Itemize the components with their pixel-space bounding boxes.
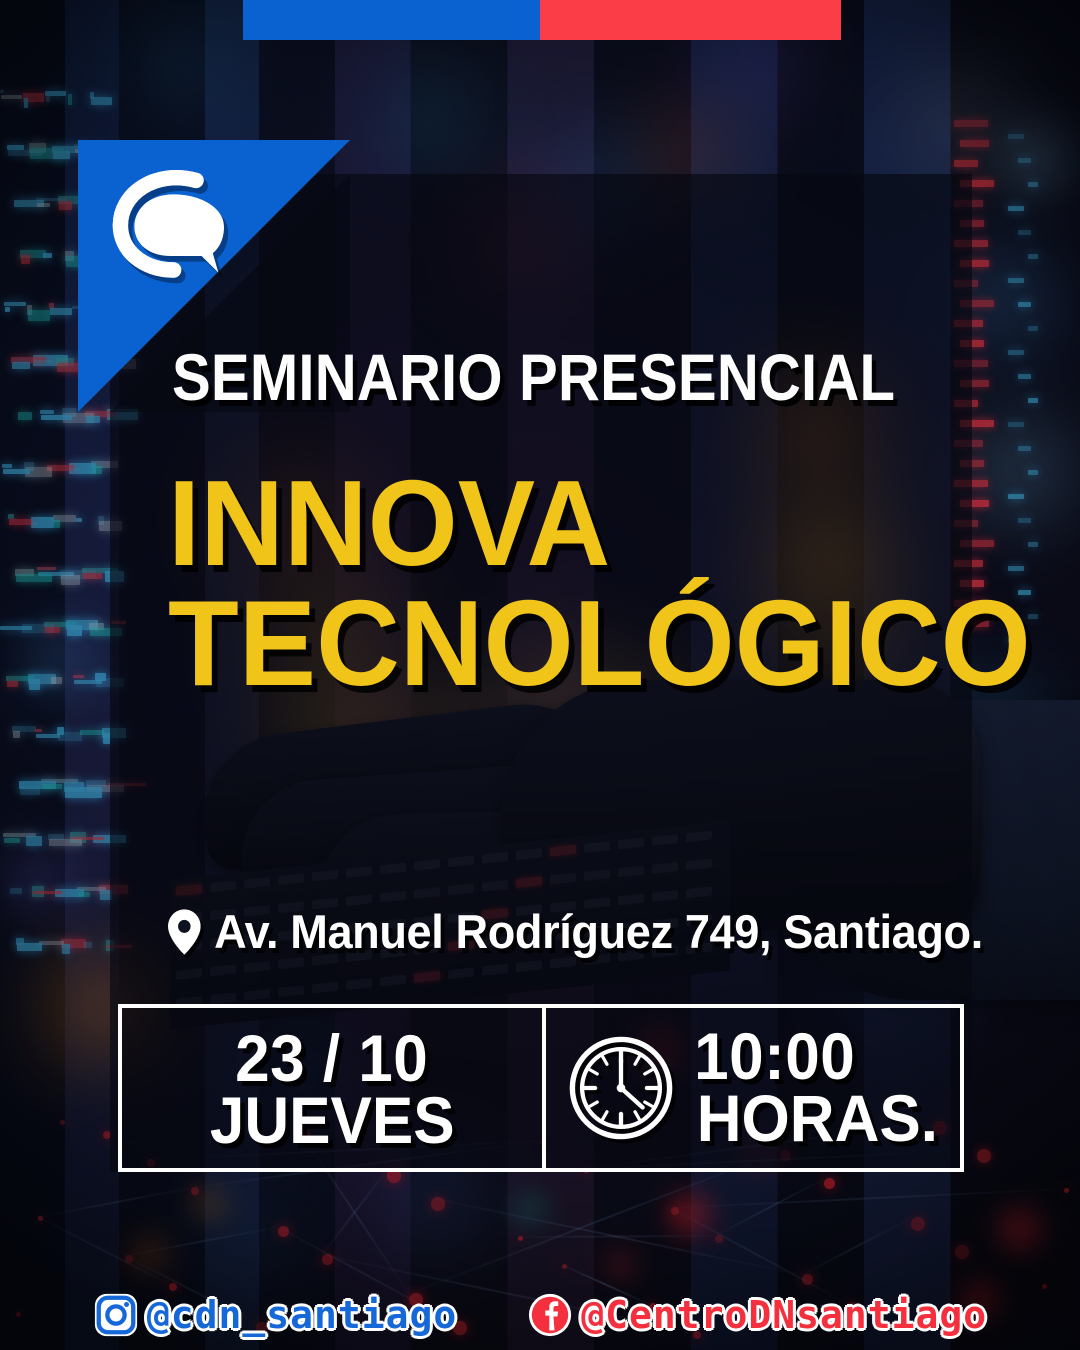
instagram-handle-item[interactable]: @cdn_santiago — [93, 1292, 457, 1338]
top-bar-red — [540, 0, 841, 40]
top-color-bars — [243, 0, 841, 40]
address-text: Av. Manuel Rodríguez 749, Santiago. — [214, 904, 983, 959]
clock-icon — [567, 1034, 675, 1142]
facebook-icon[interactable] — [527, 1292, 573, 1338]
time-block: 10:00 HORAS. — [546, 1008, 960, 1168]
instagram-handle-text[interactable]: @cdn_santiago — [147, 1293, 457, 1337]
kicker-text: SEMINARIO PRESENCIAL — [172, 339, 867, 415]
instagram-icon[interactable] — [93, 1292, 139, 1338]
time-text-group: 10:00 HORAS. — [689, 1025, 946, 1150]
location-pin-icon — [168, 909, 201, 955]
poster-content: SEMINARIO PRESENCIAL INNOVA TECNOLÓGICO … — [110, 174, 972, 1172]
social-footer: @cdn_santiago @CentroDNsantiago — [0, 1283, 1080, 1347]
event-time-unit: HORAS. — [696, 1087, 937, 1150]
facebook-handle-item[interactable]: @CentroDNsantiago — [527, 1292, 987, 1338]
event-weekday: JUEVES — [210, 1089, 455, 1152]
headline-line-2: TECNOLÓGICO — [168, 584, 928, 704]
top-bar-blue — [243, 0, 540, 40]
headline: INNOVA TECNOLÓGICO — [168, 464, 928, 703]
poster-root: SEMINARIO PRESENCIAL INNOVA TECNOLÓGICO … — [0, 0, 1080, 1350]
event-time: 10:00 — [694, 1025, 855, 1087]
event-date: 23 / 10 — [235, 1027, 428, 1089]
facebook-handle-text[interactable]: @CentroDNsantiago — [581, 1293, 987, 1337]
headline-line-1: INNOVA — [168, 455, 610, 591]
date-time-box: 23 / 10 JUEVES — [118, 1004, 964, 1172]
address-row: Av. Manuel Rodríguez 749, Santiago. — [168, 904, 936, 959]
date-block: 23 / 10 JUEVES — [122, 1008, 546, 1168]
